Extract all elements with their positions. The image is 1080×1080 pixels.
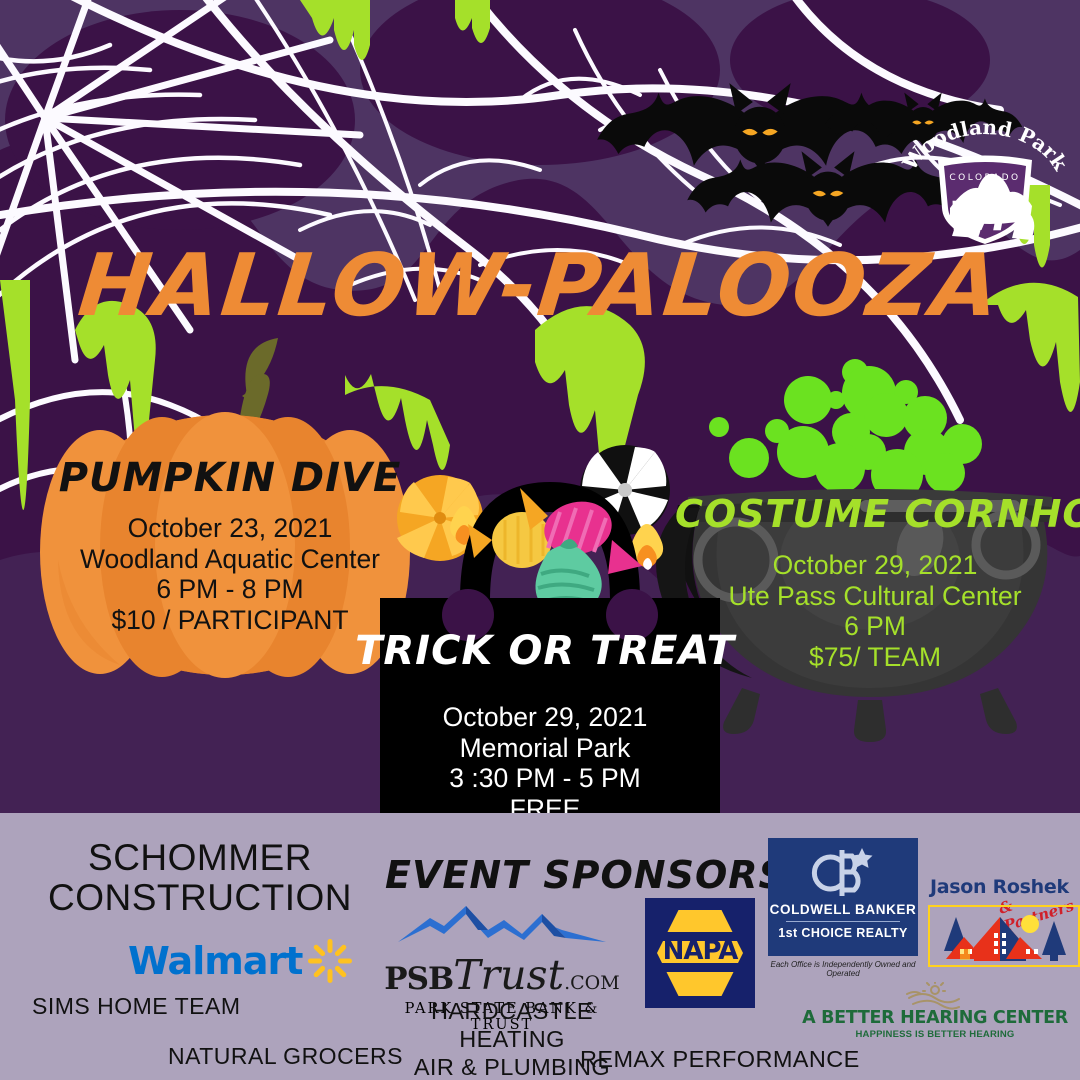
event-time: 6 PM - 8 PM: [35, 574, 425, 605]
event-sponsors-heading: EVENT SPONSORS:: [385, 853, 803, 897]
event-heading: PUMPKIN DIVE: [35, 455, 425, 501]
event-heading: COSTUME CORNHOLE: [675, 492, 1075, 536]
psb-initials: PSB: [384, 961, 453, 997]
psb-main-row: PSBTrust.COM: [382, 951, 622, 999]
logo-monogram: WP: [948, 194, 1021, 240]
event-venue: Memorial Park: [355, 733, 735, 764]
event-price: $75/ TEAM: [675, 642, 1075, 673]
event-card-costume-cornhole: COSTUME CORNHOLE October 29, 2021 Ute Pa…: [675, 492, 1075, 673]
event-date: October 29, 2021: [675, 550, 1075, 581]
schommer-line-2: CONSTRUCTION: [40, 878, 360, 918]
mountain-icon: [392, 900, 612, 946]
woodland-park-logo: Woodland Park COLORADO WP: [900, 118, 1070, 246]
sponsor-schommer-construction: SCHOMMER CONSTRUCTION: [40, 838, 360, 918]
hearing-center-name: A BETTER HEARING CENTER: [800, 1008, 1070, 1028]
event-time: 6 PM: [675, 611, 1075, 642]
sponsor-walmart-logo: Walmart: [128, 938, 353, 984]
napa-wordmark: NAPA: [645, 936, 755, 966]
event-venue: Ute Pass Cultural Center: [675, 581, 1075, 612]
event-details: October 29, 2021 Ute Pass Cultural Cente…: [675, 550, 1075, 673]
sponsor-remax-performance: REMAX PERFORMANCE: [580, 1046, 860, 1073]
roshek-houses-icon: [928, 905, 1080, 967]
page-title: HALLOW-PALOOZA: [0, 243, 1080, 329]
sponsor-better-hearing-center: A BETTER HEARING CENTER HAPPINESS IS BET…: [800, 1008, 1070, 1040]
coldwell-divider: [786, 921, 900, 922]
walmart-wordmark: Walmart: [128, 939, 302, 983]
event-time: 3 :30 PM - 5 PM: [355, 763, 735, 794]
coldwell-cb-star-icon: [768, 842, 918, 904]
event-details: October 23, 2021 Woodland Aquatic Center…: [35, 513, 425, 636]
sponsor-coldwell-banker-logo: COLDWELL BANKER 1st CHOICE REALTY: [768, 838, 918, 956]
hardcastle-line-1: HARDCASTLE HEATING: [392, 997, 632, 1053]
walmart-spark-icon: [307, 938, 353, 984]
halloween-event-poster: Woodland Park COLORADO WP HALLOW-PALOOZA…: [0, 0, 1080, 1080]
event-date: October 29, 2021: [355, 702, 735, 733]
event-details: October 29, 2021 Memorial Park 3 :30 PM …: [355, 702, 735, 825]
sponsor-sims-home-team: SIMS HOME TEAM: [32, 993, 241, 1020]
psb-trust-word: Trust: [453, 951, 564, 999]
sponsor-natural-grocers: NATURAL GROCERS: [168, 1043, 403, 1070]
sponsor-napa-logo: NAPA: [645, 898, 755, 1008]
event-card-pumpkin-dive: PUMPKIN DIVE October 23, 2021 Woodland A…: [35, 455, 425, 636]
schommer-line-1: SCHOMMER: [40, 838, 360, 878]
psb-com-suffix: .COM: [564, 972, 620, 994]
event-venue: Woodland Aquatic Center: [35, 544, 425, 575]
event-date: October 23, 2021: [35, 513, 425, 544]
coldwell-realty-name: 1st CHOICE REALTY: [768, 926, 918, 940]
coldwell-fine-print: Each Office is Independently Owned and O…: [768, 960, 918, 978]
hearing-center-tagline: HAPPINESS IS BETTER HEARING: [800, 1029, 1070, 1040]
coldwell-banker-name: COLDWELL BANKER: [768, 902, 918, 917]
